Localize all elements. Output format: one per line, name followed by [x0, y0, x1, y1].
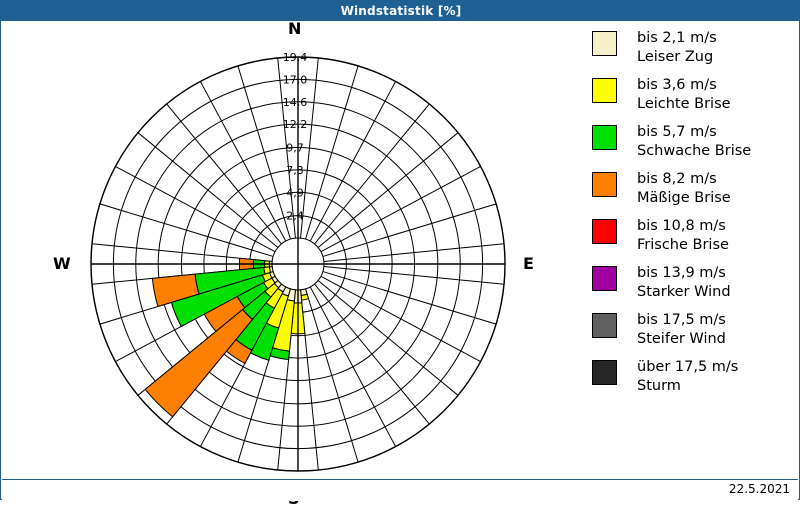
- legend-color-swatch: [592, 219, 617, 244]
- legend-label-group: bis 2,1 m/sLeiser Zug: [637, 29, 717, 67]
- radial-tick-label: 12,2: [283, 118, 308, 131]
- legend-color-swatch: [592, 172, 617, 197]
- radial-tick-labels: 2,44,97,39,712,214,617,019,4: [283, 51, 308, 223]
- window-title: Windstatistik [%]: [341, 4, 462, 18]
- legend: bis 2,1 m/sLeiser Zugbis 3,6 m/sLeichte …: [580, 29, 798, 405]
- windrose-window: Windstatistik [%] 2,44,97,39,712,214,617…: [0, 0, 800, 500]
- legend-label-group: über 17,5 m/sSturm: [637, 358, 738, 396]
- radial-tick-label: 7,3: [286, 164, 304, 177]
- legend-item[interactable]: bis 17,5 m/sSteifer Wind: [580, 311, 798, 349]
- legend-color-swatch: [592, 360, 617, 385]
- legend-speed-label: bis 2,1 m/s: [637, 29, 717, 48]
- legend-speed-label: bis 5,7 m/s: [637, 123, 751, 142]
- legend-color-swatch: [592, 78, 617, 103]
- radial-tick-label: 2,4: [286, 210, 304, 223]
- window-titlebar: Windstatistik [%]: [1, 1, 800, 21]
- legend-item[interactable]: bis 10,8 m/sFrische Brise: [580, 217, 798, 255]
- radial-tick-label: 14,6: [283, 96, 308, 109]
- legend-speed-label: bis 8,2 m/s: [637, 170, 731, 189]
- legend-speed-label: bis 3,6 m/s: [637, 76, 731, 95]
- legend-item[interactable]: bis 8,2 m/sMäßige Brise: [580, 170, 798, 208]
- date-stamp: 22.5.2021: [729, 482, 790, 496]
- legend-label-group: bis 3,6 m/sLeichte Brise: [637, 76, 731, 114]
- legend-name-label: Frische Brise: [637, 236, 729, 255]
- legend-item[interactable]: bis 13,9 m/sStarker Wind: [580, 264, 798, 302]
- legend-item[interactable]: über 17,5 m/sSturm: [580, 358, 798, 396]
- legend-label-group: bis 5,7 m/sSchwache Brise: [637, 123, 751, 161]
- grid-spoke: [306, 289, 359, 462]
- legend-name-label: Starker Wind: [637, 283, 731, 302]
- radial-tick-label: 17,0: [283, 73, 308, 86]
- grid-spoke: [306, 66, 359, 239]
- radial-tick-label: 4,9: [286, 186, 304, 199]
- legend-item[interactable]: bis 3,6 m/sLeichte Brise: [580, 76, 798, 114]
- legend-label-group: bis 10,8 m/sFrische Brise: [637, 217, 729, 255]
- compass-label-west: W: [53, 254, 71, 273]
- window-footer: 22.5.2021: [2, 479, 798, 501]
- grid-spoke: [323, 204, 496, 257]
- window-content: 2,44,97,39,712,214,617,019,4 N E S W bis…: [2, 21, 798, 479]
- legend-item[interactable]: bis 5,7 m/sSchwache Brise: [580, 123, 798, 161]
- windrose-chart: 2,44,97,39,712,214,617,019,4 N E S W: [2, 21, 572, 479]
- legend-label-group: bis 8,2 m/sMäßige Brise: [637, 170, 731, 208]
- legend-speed-label: bis 13,9 m/s: [637, 264, 731, 283]
- legend-label-group: bis 13,9 m/sStarker Wind: [637, 264, 731, 302]
- windrose-svg: 2,44,97,39,712,214,617,019,4: [2, 21, 572, 479]
- grid-spoke: [238, 66, 291, 239]
- petal-segment: [301, 294, 308, 300]
- legend-name-label: Schwache Brise: [637, 142, 751, 161]
- legend-name-label: Mäßige Brise: [637, 189, 731, 208]
- legend-label-group: bis 17,5 m/sSteifer Wind: [637, 311, 726, 349]
- legend-item[interactable]: bis 2,1 m/sLeiser Zug: [580, 29, 798, 67]
- legend-name-label: Leiser Zug: [637, 48, 717, 67]
- legend-name-label: Leichte Brise: [637, 95, 731, 114]
- legend-speed-label: über 17,5 m/s: [637, 358, 738, 377]
- legend-color-swatch: [592, 31, 617, 56]
- legend-color-swatch: [592, 125, 617, 150]
- grid-spoke: [323, 272, 496, 325]
- legend-color-swatch: [592, 313, 617, 338]
- compass-label-north: N: [288, 19, 301, 38]
- radial-tick-label: 9,7: [286, 142, 304, 155]
- grid-spoke: [100, 204, 273, 257]
- legend-speed-label: bis 10,8 m/s: [637, 217, 729, 236]
- compass-label-east: E: [523, 254, 534, 273]
- legend-name-label: Sturm: [637, 377, 738, 396]
- legend-name-label: Steifer Wind: [637, 330, 726, 349]
- radial-tick-label: 19,4: [283, 51, 308, 64]
- legend-speed-label: bis 17,5 m/s: [637, 311, 726, 330]
- legend-color-swatch: [592, 266, 617, 291]
